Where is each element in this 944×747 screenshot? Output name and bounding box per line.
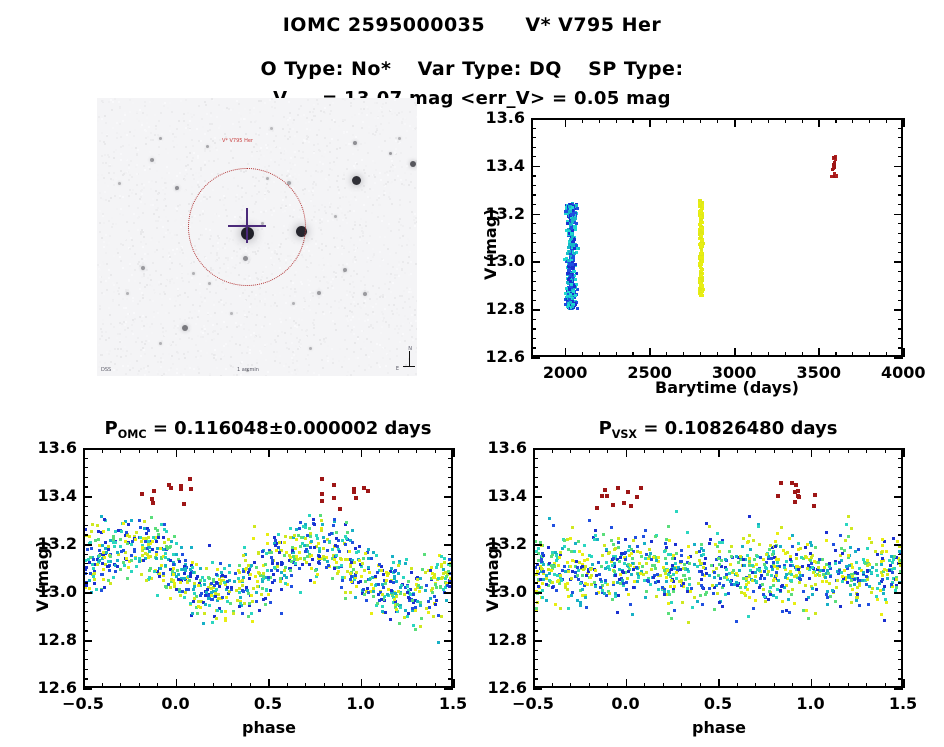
axis-tick: [83, 534, 88, 535]
sky-noise-pixel: [312, 187, 314, 189]
sky-noise-pixel: [179, 294, 181, 296]
otype-value: No*: [351, 58, 391, 80]
sky-noise-pixel: [374, 182, 376, 184]
data-point: [88, 535, 91, 538]
sky-noise-pixel: [176, 234, 178, 236]
data-point: [107, 579, 110, 582]
data-point: [568, 243, 571, 246]
sky-noise-pixel: [118, 101, 120, 103]
sky-noise-pixel: [382, 129, 384, 131]
sky-noise-pixel: [302, 142, 304, 144]
data-point: [370, 612, 373, 615]
data-point: [811, 593, 814, 596]
sky-noise-pixel: [379, 133, 381, 135]
sky-noise-pixel: [266, 149, 268, 151]
sky-noise-pixel: [405, 269, 407, 271]
data-point: [195, 577, 198, 580]
sky-noise-pixel: [249, 109, 251, 111]
sky-noise-pixel: [413, 219, 415, 221]
sky-noise-pixel: [204, 328, 206, 330]
sky-noise-pixel: [330, 203, 332, 205]
sky-noise-pixel: [396, 348, 398, 350]
sky-noise-pixel: [108, 307, 110, 309]
sky-noise-pixel: [99, 276, 101, 278]
data-point: [571, 267, 574, 270]
sky-noise-pixel: [344, 99, 346, 101]
sky-noise-pixel: [361, 330, 363, 332]
sky-noise-pixel: [372, 327, 374, 329]
axis-tick: [250, 448, 251, 453]
sky-noise-pixel: [302, 157, 304, 159]
sky-noise-pixel: [108, 227, 110, 229]
data-point: [394, 592, 397, 595]
lightcurve-x-axis-label: Barytime (days): [655, 378, 799, 397]
sky-noise-pixel: [354, 342, 356, 344]
axis-tick: [83, 592, 92, 594]
data-point: [637, 576, 640, 579]
sky-noise-pixel: [409, 201, 411, 203]
data-point: [272, 573, 275, 576]
sky-noise-pixel: [266, 343, 268, 345]
sky-noise-pixel: [153, 316, 155, 318]
axis-tick: [379, 448, 380, 453]
sky-noise-pixel: [122, 244, 124, 246]
sky-noise-pixel: [292, 282, 294, 284]
sky-noise-pixel: [139, 198, 141, 200]
sky-noise-pixel: [348, 251, 350, 253]
data-point: [399, 592, 402, 595]
sky-noise-pixel: [183, 113, 185, 115]
axis-tick: [83, 621, 88, 622]
sky-noise-pixel: [389, 350, 391, 352]
data-point: [870, 541, 873, 544]
sky-noise-pixel: [332, 219, 334, 221]
sky-noise-pixel: [368, 242, 370, 244]
data-point: [360, 575, 363, 578]
axis-tick: [83, 563, 88, 564]
sky-noise-pixel: [384, 192, 386, 194]
data-point: [650, 568, 653, 571]
data-point: [358, 545, 361, 548]
axis-tick: [416, 448, 417, 453]
sky-noise-pixel: [231, 336, 233, 338]
sky-noise-pixel: [371, 316, 373, 318]
sky-noise-pixel: [374, 162, 376, 164]
sky-noise-pixel: [182, 280, 184, 282]
sky-noise-pixel: [292, 163, 294, 165]
axis-tick: [448, 554, 453, 555]
data-point: [199, 567, 202, 570]
sky-noise-pixel: [207, 130, 209, 132]
data-point: [674, 543, 677, 546]
sky-noise-pixel: [198, 172, 200, 174]
sky-noise-pixel: [187, 112, 189, 114]
data-point: [629, 603, 632, 606]
data-point: [310, 540, 313, 543]
sky-noise-pixel: [365, 361, 367, 363]
sky-noise-pixel: [321, 256, 323, 258]
sky-noise-pixel: [191, 160, 193, 162]
sky-noise-pixel: [132, 189, 134, 191]
sky-noise-pixel: [303, 250, 305, 252]
sky-noise-pixel: [288, 131, 290, 133]
sky-noise-pixel: [182, 252, 184, 254]
axis-tick: [531, 137, 536, 138]
data-point: [251, 620, 254, 623]
data-point: [331, 577, 334, 580]
x-tick-label: 3500: [796, 363, 840, 382]
data-point: [208, 544, 211, 547]
data-point: [130, 570, 133, 573]
sky-noise-pixel: [394, 179, 396, 181]
sky-noise-pixel: [168, 172, 170, 174]
sky-noise-pixel: [200, 296, 202, 298]
sky-noise-pixel: [135, 166, 137, 168]
sky-noise-pixel: [388, 223, 390, 225]
sky-noise-pixel: [144, 374, 146, 376]
data-point: [228, 571, 231, 574]
data-point: [238, 571, 241, 574]
sky-noise-pixel: [241, 352, 243, 354]
sky-noise-pixel: [209, 150, 211, 152]
sky-noise-pixel: [97, 174, 99, 176]
data-point: [886, 577, 889, 580]
data-point: [254, 575, 257, 578]
sky-noise-pixel: [236, 312, 238, 314]
data-point: [138, 557, 141, 560]
data-point: [410, 567, 413, 570]
sky-noise-pixel: [274, 330, 276, 332]
sky-noise-pixel: [389, 198, 391, 200]
sky-noise-pixel: [147, 365, 149, 367]
sky-noise-pixel: [350, 237, 352, 239]
sky-noise-pixel: [129, 174, 131, 176]
sky-noise-pixel: [226, 107, 228, 109]
sky-noise-pixel: [151, 111, 153, 113]
sky-noise-pixel: [259, 293, 261, 295]
sky-noise-pixel: [363, 341, 365, 343]
vartype-label: Var Type:: [418, 58, 522, 80]
data-point: [151, 501, 155, 505]
sky-noise-pixel: [169, 258, 171, 260]
data-point: [713, 608, 716, 611]
axis-tick: [268, 448, 270, 457]
sky-noise-pixel: [285, 342, 287, 344]
compass-east-arrow-icon: [403, 366, 415, 367]
axis-tick: [785, 118, 786, 123]
sky-noise-pixel: [384, 140, 386, 142]
sky-noise-pixel: [110, 274, 112, 276]
data-point: [567, 259, 570, 262]
sky-noise-pixel: [188, 317, 190, 319]
data-point: [301, 563, 304, 566]
data-point: [412, 624, 415, 627]
sky-noise-pixel: [379, 236, 381, 238]
data-point: [215, 581, 218, 584]
sky-noise-pixel: [142, 297, 144, 299]
sky-noise-pixel: [140, 368, 142, 370]
data-point: [293, 558, 296, 561]
data-point: [397, 590, 400, 593]
data-point: [170, 578, 173, 581]
sky-noise-pixel: [128, 230, 130, 232]
data-point: [191, 612, 194, 615]
axis-tick: [700, 352, 701, 357]
sky-noise-pixel: [97, 179, 99, 181]
sky-noise-pixel: [306, 246, 308, 248]
sky-noise-pixel: [387, 354, 389, 356]
sky-noise-pixel: [103, 293, 105, 295]
sky-noise-pixel: [198, 368, 200, 370]
data-point: [233, 580, 236, 583]
sky-noise-pixel: [263, 155, 265, 157]
sky-noise-pixel: [106, 351, 108, 353]
sky-noise-pixel: [354, 224, 356, 226]
sky-noise-pixel: [201, 118, 203, 120]
data-point: [410, 571, 413, 574]
sky-noise-pixel: [372, 189, 374, 191]
sky-noise-pixel: [141, 328, 143, 330]
sky-noise-pixel: [169, 282, 171, 284]
sky-noise-pixel: [187, 296, 189, 298]
sky-noise-pixel: [367, 291, 369, 293]
data-point: [437, 577, 440, 580]
data-point: [403, 593, 406, 596]
sky-noise-pixel: [134, 269, 136, 271]
sky-noise-pixel: [278, 164, 280, 166]
sky-noise-pixel: [306, 138, 308, 140]
sky-noise-pixel: [321, 268, 323, 270]
data-point: [625, 588, 628, 591]
sky-noise-pixel: [323, 111, 325, 113]
sky-noise-pixel: [185, 127, 187, 129]
sky-noise-pixel: [344, 187, 346, 189]
sky-noise-pixel: [211, 173, 213, 175]
data-point: [141, 554, 144, 557]
sky-noise-pixel: [404, 123, 406, 125]
sky-noise-pixel: [194, 310, 196, 312]
data-point: [833, 156, 836, 159]
data-point: [632, 586, 635, 589]
data-point: [175, 553, 178, 556]
sky-noise-pixel: [384, 347, 386, 349]
sky-noise-pixel: [127, 147, 129, 149]
sky-noise-pixel: [339, 197, 341, 199]
data-point: [130, 519, 133, 522]
data-point: [182, 502, 186, 506]
sky-noise-pixel: [324, 107, 326, 109]
sky-noise-pixel: [374, 117, 376, 119]
sky-noise-pixel: [103, 177, 105, 179]
data-point: [664, 542, 667, 545]
sky-noise-pixel: [169, 102, 171, 104]
data-point: [203, 612, 206, 615]
sky-noise-pixel: [283, 294, 285, 296]
sky-noise-pixel: [335, 329, 337, 331]
sky-noise-pixel: [105, 331, 107, 333]
sky-noise-pixel: [200, 336, 202, 338]
data-point: [213, 584, 216, 587]
data-point: [195, 563, 198, 566]
sky-noise-pixel: [188, 330, 190, 332]
data-point: [825, 539, 828, 542]
sky-noise-pixel: [207, 320, 209, 322]
axis-tick: [565, 348, 567, 357]
axis-tick: [531, 290, 536, 291]
data-point: [164, 564, 167, 567]
sky-noise-pixel: [167, 152, 169, 154]
axis-tick: [531, 214, 540, 216]
sky-noise-pixel: [133, 222, 135, 224]
sky-noise-pixel: [99, 231, 101, 233]
sky-noise-pixel: [183, 133, 185, 135]
axis-tick: [666, 118, 667, 123]
sky-noise-pixel: [398, 215, 400, 217]
sky-noise-pixel: [368, 326, 370, 328]
sky-noise-pixel: [223, 345, 225, 347]
axis-tick: [898, 137, 903, 138]
data-point: [274, 544, 277, 547]
data-point: [156, 529, 159, 532]
sky-noise-pixel: [274, 107, 276, 109]
data-point: [713, 571, 716, 574]
axis-tick: [194, 448, 195, 453]
sky-noise-pixel: [238, 121, 240, 123]
sky-noise-pixel: [253, 113, 255, 115]
sky-noise-pixel: [338, 125, 340, 127]
sky-noise-pixel: [128, 279, 130, 281]
sky-noise-pixel: [299, 339, 301, 341]
sky-noise-pixel: [390, 291, 392, 293]
data-point: [569, 293, 572, 296]
sky-noise-pixel: [163, 209, 165, 211]
data-point: [321, 523, 324, 526]
data-point: [234, 572, 237, 575]
sky-noise-pixel: [382, 115, 384, 117]
data-point: [262, 575, 265, 578]
sky-noise-pixel: [400, 179, 402, 181]
axis-tick: [305, 683, 306, 688]
sky-noise-pixel: [158, 241, 160, 243]
sky-noise-pixel: [133, 135, 135, 137]
sky-noise-pixel: [141, 341, 143, 343]
axis-tick: [444, 592, 453, 594]
sky-noise-pixel: [330, 201, 332, 203]
sky-noise-pixel: [223, 304, 225, 306]
sky-noise-pixel: [221, 351, 223, 353]
sky-noise-pixel: [364, 191, 366, 193]
sky-noise-pixel: [198, 372, 200, 374]
axis-tick: [83, 582, 88, 583]
data-point: [143, 520, 146, 523]
sky-noise-pixel: [316, 99, 318, 101]
sky-noise-pixel: [104, 207, 106, 209]
sky-noise-pixel: [338, 189, 340, 191]
axis-tick: [898, 252, 903, 253]
vartype-value: DQ: [529, 58, 562, 80]
data-point: [405, 558, 408, 561]
sky-noise-pixel: [313, 324, 315, 326]
sky-noise-pixel: [203, 325, 205, 327]
sky-noise-pixel: [411, 211, 413, 213]
axis-tick: [231, 683, 232, 688]
object-name: V* V795 Her: [525, 14, 661, 36]
sky-noise-pixel: [179, 338, 181, 340]
sky-noise-pixel: [225, 368, 227, 370]
sky-noise-pixel: [131, 176, 133, 178]
sky-noise-pixel: [352, 228, 354, 230]
sky-noise-pixel: [251, 155, 253, 157]
data-point: [125, 531, 128, 534]
sky-noise-pixel: [136, 215, 138, 217]
sky-noise-pixel: [401, 166, 403, 168]
data-point: [700, 584, 703, 587]
sky-noise-pixel: [164, 334, 166, 336]
sky-noise-pixel: [309, 309, 311, 311]
data-point: [419, 601, 422, 604]
sky-noise-pixel: [397, 175, 399, 177]
data-point: [680, 549, 683, 552]
sky-noise-pixel: [161, 296, 163, 298]
sky-noise-pixel: [375, 303, 377, 305]
data-point: [785, 609, 788, 612]
axis-tick: [435, 448, 436, 453]
star-marker: [141, 266, 145, 270]
sky-noise-pixel: [211, 353, 213, 355]
sky-noise-pixel: [112, 127, 114, 129]
data-point: [713, 576, 716, 579]
data-point: [280, 588, 283, 591]
sky-noise-pixel: [290, 288, 292, 290]
data-point: [636, 545, 639, 548]
sky-noise-pixel: [106, 135, 108, 137]
sky-noise-pixel: [173, 327, 175, 329]
sky-noise-pixel: [375, 293, 377, 295]
star-marker: [270, 127, 273, 130]
data-point: [762, 588, 765, 591]
sky-noise-pixel: [273, 304, 275, 306]
data-point: [570, 232, 573, 235]
sky-noise-pixel: [187, 124, 189, 126]
sky-noise-pixel: [277, 335, 279, 337]
sky-noise-pixel: [323, 313, 325, 315]
sky-noise-pixel: [109, 314, 111, 316]
sky-noise-pixel: [400, 152, 402, 154]
data-point: [561, 569, 564, 572]
axis-tick: [886, 118, 887, 123]
sky-noise-pixel: [101, 155, 103, 157]
sky-noise-pixel: [307, 161, 309, 163]
axis-tick: [898, 328, 903, 329]
sky-noise-pixel: [105, 162, 107, 164]
data-point: [585, 574, 588, 577]
sky-noise-pixel: [160, 140, 162, 142]
star-marker: [317, 291, 321, 295]
sky-noise-pixel: [191, 277, 193, 279]
sky-noise-pixel: [300, 105, 302, 107]
sky-noise-pixel: [318, 247, 320, 249]
data-point: [163, 523, 166, 526]
sky-noise-pixel: [324, 137, 326, 139]
sky-noise-pixel: [181, 271, 183, 273]
data-point: [317, 542, 320, 545]
sky-noise-pixel: [140, 241, 142, 243]
sky-noise-pixel: [143, 367, 145, 369]
sky-noise-pixel: [280, 312, 282, 314]
data-point: [404, 609, 407, 612]
axis-tick: [632, 118, 633, 123]
sky-noise-pixel: [265, 291, 267, 293]
